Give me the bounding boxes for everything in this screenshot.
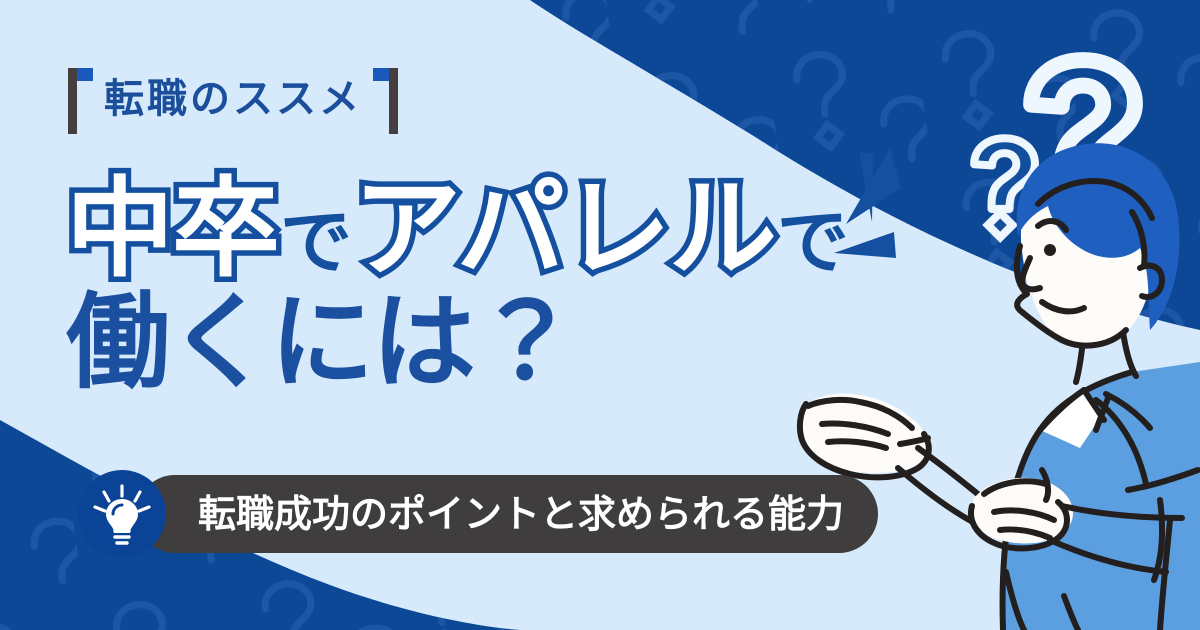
headline-seg-chusotsu: 中卒 — [66, 176, 278, 284]
lightbulb-icon — [91, 483, 153, 545]
headline-line-2: 働くには？ — [66, 290, 850, 394]
headline: 中卒 で アパレル で 働くには？ — [66, 176, 850, 394]
subtitle-text: 転職成功のポイントと求められる能力 — [198, 495, 844, 533]
subtitle-pill: 転職成功のポイントと求められる能力 — [136, 475, 878, 553]
headline-seg-hataraku: 働くには？ — [66, 290, 576, 394]
bracket-left-icon — [68, 68, 94, 134]
thumbnail-canvas: 転職のススメ 中卒 で アパレル で 働くには？ — [0, 0, 1200, 630]
kicker: 転職のススメ — [68, 68, 398, 134]
headline-seg-apparel: アパレル — [353, 176, 775, 284]
headline-seg-de-1: で — [280, 206, 351, 278]
bracket-right-icon — [372, 68, 398, 134]
headline-line-1: 中卒 で アパレル で — [66, 176, 850, 284]
kicker-label: 転職のススメ — [104, 79, 362, 119]
lightbulb-badge — [78, 470, 166, 558]
subtitle-banner: 転職成功のポイントと求められる能力 — [78, 470, 878, 558]
headline-seg-de-2: で — [777, 206, 848, 278]
